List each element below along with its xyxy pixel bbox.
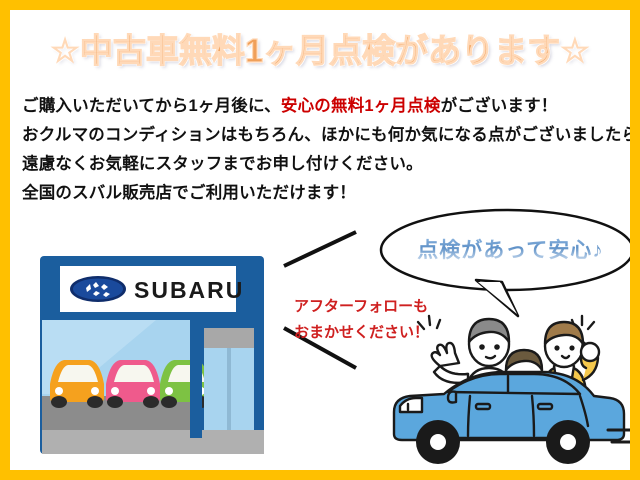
car-orange — [50, 360, 104, 408]
speech-bubble-text: 点検があって安心♪ — [408, 234, 613, 264]
car-pink — [106, 360, 160, 408]
page-title: ☆中古車無料1ヶ月点検があります☆ — [10, 24, 630, 72]
copy-line-4: 全国のスバル販売店でご利用いただけます！ — [22, 179, 618, 208]
car-green — [160, 360, 210, 408]
sidewalk — [42, 430, 264, 454]
copy-line-1-highlight: 安心の無料1ヶ月点検 — [281, 97, 441, 115]
copy-line-2: おクルマのコンディションはもちろん、ほかにも何か気になる点がございましたら — [22, 121, 618, 150]
copy-line-1-prefix: ご購入いただいてから1ヶ月後に、 — [22, 97, 281, 115]
sparkle-left — [418, 316, 440, 329]
door-divider — [227, 348, 231, 430]
family-car-svg — [382, 300, 632, 472]
promo-poster: ☆中古車無料1ヶ月点検があります☆ ご購入いただいてから1ヶ月後に、安心の無料1… — [0, 0, 640, 480]
subaru-logo — [70, 276, 126, 302]
body-copy: ご購入いただいてから1ヶ月後に、安心の無料1ヶ月点検がございます！ おクルマのコ… — [22, 92, 618, 208]
dealership-svg: SUBARU — [28, 244, 280, 480]
artwork-area: SUBARU アフターフォローも おまかせください！ 点検があって安心♪ 点検が… — [10, 208, 630, 470]
copy-line-1: ご購入いただいてから1ヶ月後に、安心の無料1ヶ月点検がございます！ — [22, 92, 618, 121]
copy-line-3: 遠慮なくお気軽にスタッフまでお申し付けください。 — [22, 150, 618, 179]
pillar — [190, 320, 202, 438]
door-handle-front — [476, 404, 490, 409]
dealership-illustration: SUBARU — [28, 244, 280, 480]
pointer-line-top — [284, 232, 356, 266]
door-handle-rear — [538, 404, 552, 409]
sign-text: SUBARU — [134, 277, 244, 303]
copy-line-1-suffix: がございます！ — [441, 97, 558, 115]
family-car-illustration — [382, 300, 632, 472]
side-mirror — [448, 392, 456, 403]
